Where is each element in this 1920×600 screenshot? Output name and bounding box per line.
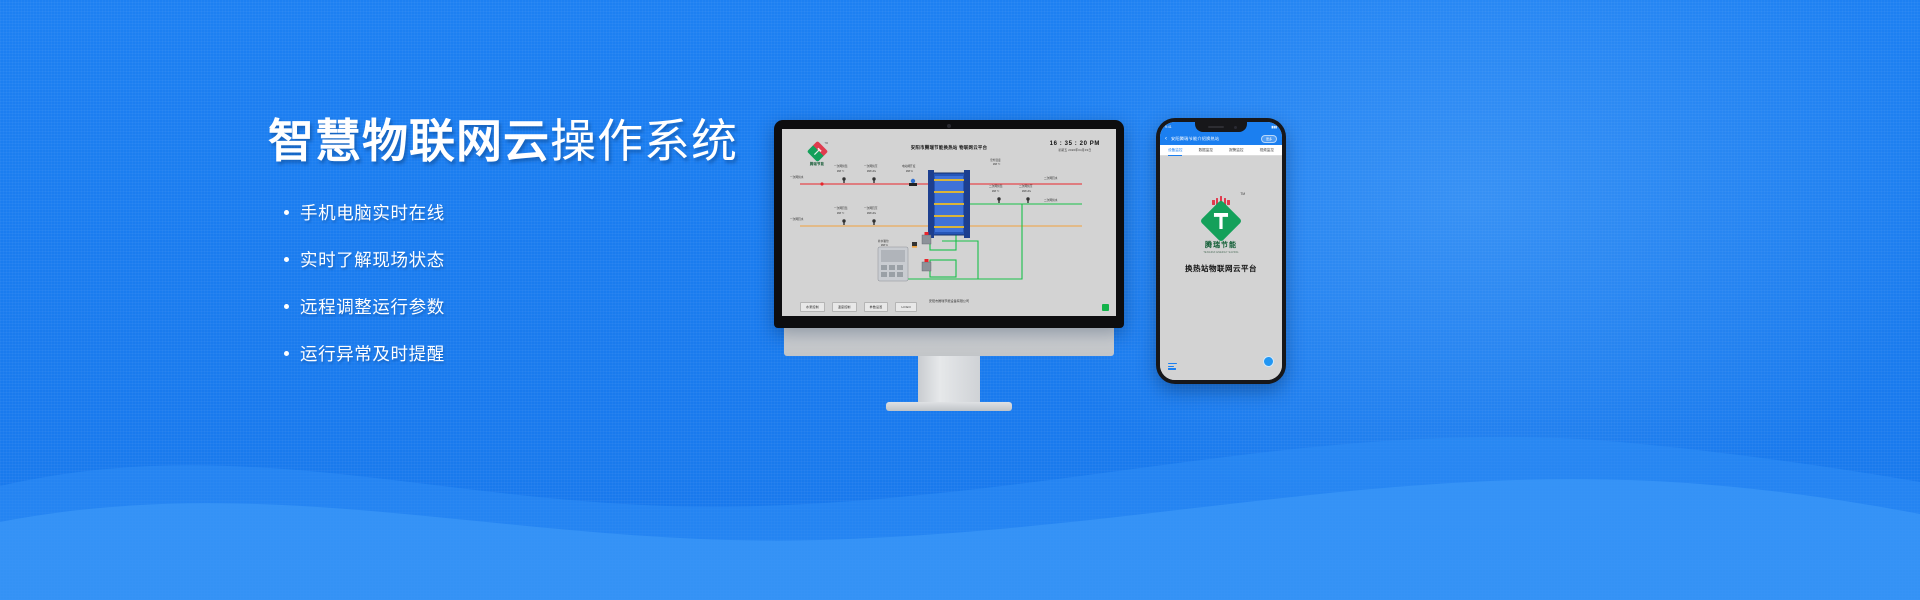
- tab-video-monitoring[interactable]: 视频监控: [1260, 148, 1274, 153]
- desktop-computer: TM 腾瑞节能 安阳市腾瑞节能换热站 物联网云平台 16 : 35 : 20 P…: [774, 120, 1124, 411]
- status-time: 9:41: [1165, 125, 1172, 129]
- svg-text:### ℃: ### ℃: [837, 170, 845, 173]
- webcam-icon: [947, 124, 951, 128]
- more-options-button[interactable]: 更多: [1261, 135, 1277, 143]
- wave-decoration: [0, 390, 1920, 600]
- scada-diagram[interactable]: 一次网供水 一次网回水 一次网供温 ### ℃ 一次网供压 ### kPa 一次…: [782, 129, 1116, 316]
- phone-tabbar[interactable]: 设备监控 数据监控 报警监控 视频监控: [1160, 145, 1282, 156]
- svg-text:一次网供压: 一次网供压: [864, 164, 878, 168]
- svg-text:二次网回水: 二次网回水: [1044, 176, 1058, 180]
- scada-dashboard[interactable]: TM 腾瑞节能 安阳市腾瑞节能换热站 物联网云平台 16 : 35 : 20 P…: [782, 129, 1116, 316]
- bullet-dot-icon: [284, 210, 289, 215]
- svg-text:一次网供水: 一次网供水: [790, 175, 804, 179]
- parameter-settings-button[interactable]: 参数设置: [864, 302, 889, 312]
- hero-banner: 智慧物联网云操作系统 手机电脑实时在线 实时了解现场状态 远程调整运行参数 运行…: [0, 0, 1920, 600]
- bullet-dot-icon: [284, 351, 289, 356]
- front-camera-icon: [1234, 126, 1237, 129]
- phone-notch: [1195, 122, 1247, 132]
- hero-copy: 智慧物联网云操作系统 手机电脑实时在线 实时了解现场状态 远程调整运行参数 运行…: [268, 116, 788, 388]
- svg-text:### ℃: ### ℃: [992, 190, 1000, 193]
- phone-platform-title: 换热站物联网云平台: [1185, 263, 1257, 274]
- list-item: 实时了解现场状态: [284, 247, 788, 272]
- tab-alarm-monitoring[interactable]: 报警监控: [1229, 148, 1243, 153]
- svg-text:### kPa: ### kPa: [867, 212, 876, 215]
- svg-text:### %: ### %: [906, 170, 914, 173]
- speaker-icon: [1208, 126, 1224, 128]
- phone-logo-label-en: TENGRUI ENERGY SAVING: [1198, 251, 1244, 254]
- monitor-screen[interactable]: TM 腾瑞节能 安阳市腾瑞节能换热站 物联网云平台 16 : 35 : 20 P…: [782, 129, 1116, 316]
- tab-device-monitoring[interactable]: 设备监控: [1168, 148, 1182, 153]
- svg-text:### kPa: ### kPa: [1022, 190, 1031, 193]
- monitor-bezel: TM 腾瑞节能 安阳市腾瑞节能换热站 物联网云平台 16 : 35 : 20 P…: [774, 120, 1124, 328]
- phone-menu-icon[interactable]: [1168, 363, 1177, 370]
- headline-strong: 智慧物联网云: [268, 115, 550, 167]
- phone-action-button[interactable]: [1263, 356, 1274, 367]
- phone-hero-content: TM 腾瑞节能 TENGRUI ENERGY SAVING 换热站物联网云平台: [1160, 156, 1282, 380]
- svg-text:一次网回水: 一次网回水: [790, 217, 804, 221]
- list-item-label: 实时了解现场状态: [300, 247, 445, 272]
- svg-text:一次网供温: 一次网供温: [834, 164, 848, 168]
- logo-button[interactable]: LOGO: [895, 302, 916, 312]
- svg-text:一次网回压: 一次网回压: [864, 206, 878, 210]
- status-badge: [1102, 304, 1109, 311]
- svg-text:室外温度: 室外温度: [990, 158, 1001, 162]
- tab-data-monitoring[interactable]: 数据监控: [1199, 148, 1213, 153]
- svg-text:### ℃: ### ℃: [837, 212, 845, 215]
- list-item: 手机电脑实时在线: [284, 200, 788, 225]
- scada-toolbar[interactable]: 水泵控制 温度控制 参数设置 LOGO: [800, 302, 917, 312]
- headline-light: 操作系统: [550, 115, 738, 167]
- monitor-stand: [918, 356, 980, 402]
- phone-nav-bar: ‹ 安阳腾瑞节能介绍换热站 更多: [1160, 132, 1282, 145]
- signal-battery-icon: ▮▮▮: [1271, 125, 1277, 129]
- svg-text:二次网供水: 二次网供水: [1044, 198, 1058, 202]
- bullet-dot-icon: [284, 304, 289, 309]
- bullet-dot-icon: [284, 257, 289, 262]
- phone-brand-logo: TM 腾瑞节能 TENGRUI ENERGY SAVING: [1198, 196, 1244, 254]
- svg-text:### kPa: ### kPa: [867, 170, 876, 173]
- svg-text:### %: ### %: [881, 244, 889, 247]
- list-item-label: 运行异常及时提醒: [300, 341, 445, 366]
- svg-text:### ℃: ### ℃: [993, 163, 1001, 166]
- trademark-label: TM: [1240, 192, 1245, 196]
- temperature-control-button[interactable]: 温度控制: [832, 302, 857, 312]
- svg-text:补水箱位: 补水箱位: [878, 239, 889, 243]
- phone-body: 9:41 ▮▮▮ ‹ 安阳腾瑞节能介绍换热站 更多 设备监控 数据监控 报警监控…: [1156, 118, 1286, 384]
- back-arrow-icon[interactable]: ‹: [1165, 136, 1167, 142]
- monitor-neck: [784, 328, 1114, 356]
- smartphone: 9:41 ▮▮▮ ‹ 安阳腾瑞节能介绍换热站 更多 设备监控 数据监控 报警监控…: [1156, 118, 1286, 384]
- list-item-label: 手机电脑实时在线: [300, 200, 445, 225]
- logo-diamond-icon: [1200, 200, 1242, 242]
- svg-text:一次网回温: 一次网回温: [834, 206, 848, 210]
- phone-logo-label-cn: 腾瑞节能: [1198, 240, 1244, 250]
- list-item: 运行异常及时提醒: [284, 341, 788, 366]
- phone-nav-title: 安阳腾瑞节能介绍换热站: [1171, 136, 1257, 142]
- feature-list: 手机电脑实时在线 实时了解现场状态 远程调整运行参数 运行异常及时提醒: [268, 200, 788, 366]
- svg-text:电动阀开度: 电动阀开度: [902, 164, 916, 168]
- svg-text:二次网供压: 二次网供压: [1019, 184, 1033, 188]
- list-item-label: 远程调整运行参数: [300, 294, 445, 319]
- pump-control-button[interactable]: 水泵控制: [800, 302, 825, 312]
- svg-text:二次网供温: 二次网供温: [989, 184, 1003, 188]
- page-title: 智慧物联网云操作系统: [268, 116, 788, 167]
- list-item: 远程调整运行参数: [284, 294, 788, 319]
- phone-screen[interactable]: 9:41 ▮▮▮ ‹ 安阳腾瑞节能介绍换热站 更多 设备监控 数据监控 报警监控…: [1160, 122, 1282, 380]
- monitor-foot: [886, 402, 1012, 411]
